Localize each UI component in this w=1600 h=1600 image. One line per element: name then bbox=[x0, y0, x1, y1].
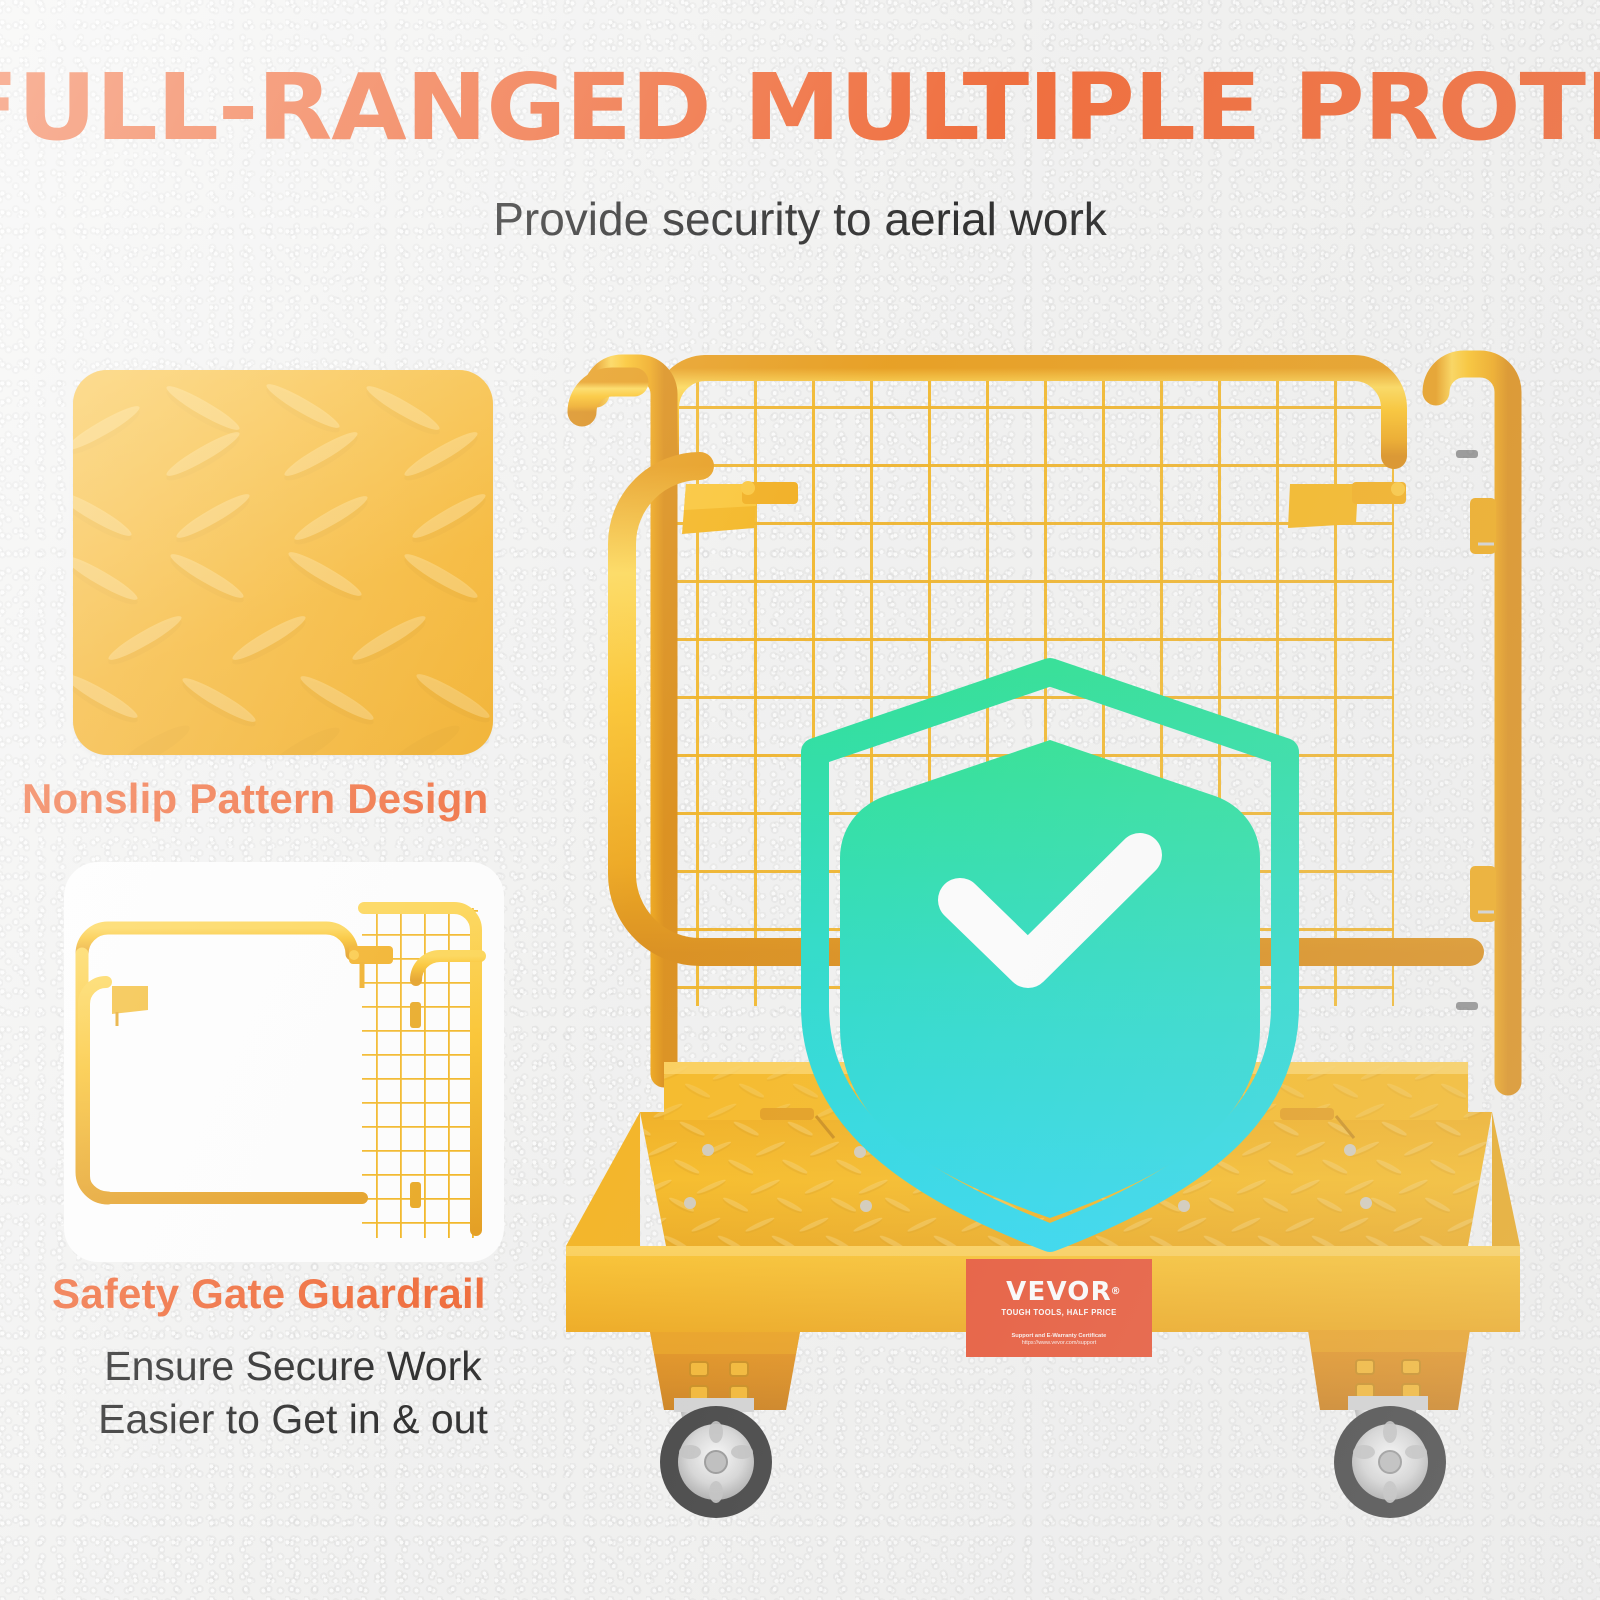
diamond-plate-texture bbox=[73, 370, 493, 755]
vevor-tagline: TOUGH TOOLS, HALF PRICE bbox=[1001, 1308, 1116, 1317]
feature-caption-safety-gate: Safety Gate Guardrail bbox=[52, 1270, 486, 1318]
poster-canvas: VEVOR® TOUGH TOOLS, HALF PRICE Support a… bbox=[0, 0, 1600, 1600]
feature-caption-nonslip: Nonslip Pattern Design bbox=[22, 775, 488, 823]
gate-illustration bbox=[64, 862, 504, 1262]
feature-body-line-1: Ensure Secure Work bbox=[104, 1343, 482, 1389]
swatch-base bbox=[73, 370, 493, 755]
page-title: FULL-RANGED MULTIPLE PROTECTION bbox=[0, 60, 1600, 156]
product-image bbox=[0, 0, 1600, 1600]
feature-body-safety-gate: Ensure Secure WorkEasier to Get in & out bbox=[58, 1340, 528, 1446]
vevor-support-url: https://www.vevor.com/support bbox=[1022, 1340, 1097, 1347]
shield-check-icon bbox=[815, 672, 1285, 1238]
vevor-wordmark: VEVOR® bbox=[1006, 1279, 1112, 1305]
feature-body-line-2: Easier to Get in & out bbox=[98, 1396, 488, 1442]
page-subtitle: Provide security to aerial work bbox=[0, 188, 1600, 250]
vevor-brand-label: VEVOR® TOUGH TOOLS, HALF PRICE Support a… bbox=[966, 1259, 1152, 1357]
diamond-plate-pattern-swatch bbox=[73, 370, 493, 755]
safety-gate-guardrail-photo bbox=[64, 862, 504, 1262]
vevor-support-line: Support and E-Warranty Certificate bbox=[1012, 1332, 1107, 1340]
